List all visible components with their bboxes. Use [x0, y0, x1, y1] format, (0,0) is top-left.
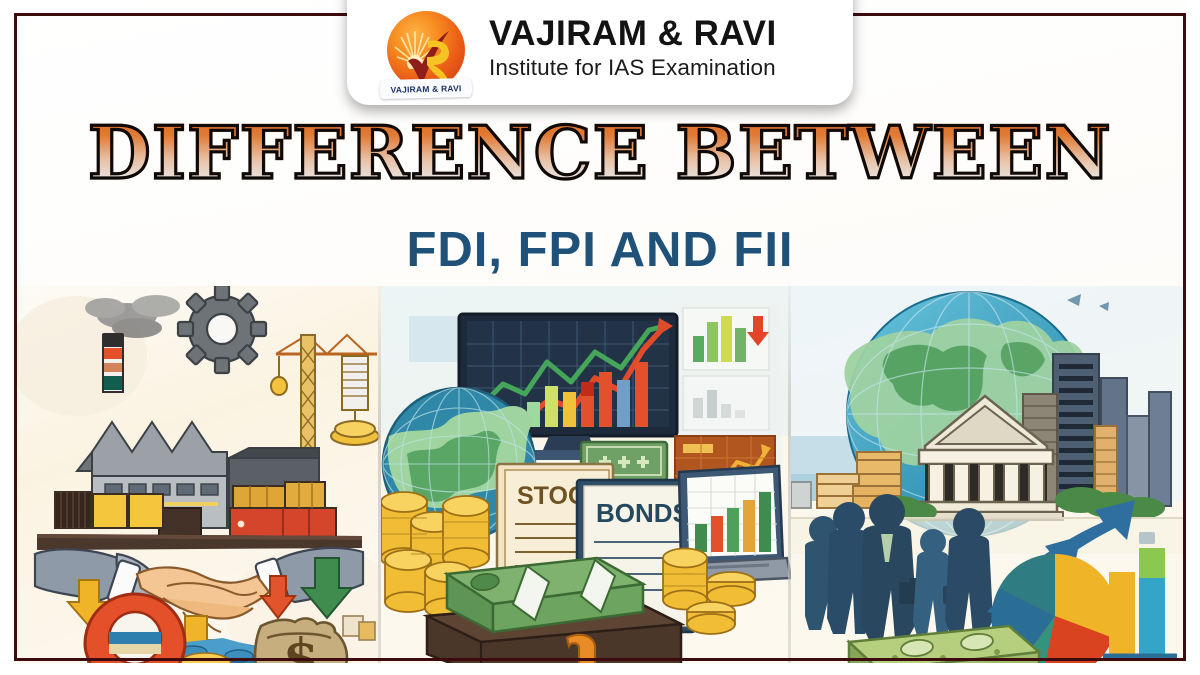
- bottom-margin-mask: [0, 663, 1200, 675]
- right-margin-mask: [1186, 0, 1200, 675]
- smokestack: [102, 333, 124, 392]
- brand-text-block: VAJIRAM & RAVI Institute for IAS Examina…: [489, 16, 777, 82]
- logo-sphere: [387, 11, 465, 89]
- headline-container: DIFFERENCE BETWEEN: [0, 117, 1200, 189]
- secondary-chart-panel: [683, 376, 769, 430]
- poster-canvas: $: [0, 0, 1200, 675]
- page-subtitle-container: FDI, FPI AND FII: [0, 222, 1200, 278]
- small-bar-chart-panel: [683, 308, 769, 370]
- brand-logo-card[interactable]: VAJIRAM & RAVI VAJIRAM & RAVI Institute …: [347, 0, 853, 105]
- brand-name: VAJIRAM & RAVI: [489, 16, 777, 52]
- panel-divider-2: [788, 286, 791, 675]
- illustration-band: $: [17, 286, 1183, 675]
- vajiram-ravi-emblem: VAJIRAM & RAVI: [383, 3, 469, 99]
- gear-icon: [178, 286, 266, 373]
- fpi-panel: STOCCS BONDS: [381, 286, 791, 675]
- logo-banner: VAJIRAM & RAVI: [380, 77, 472, 98]
- panel-divider-1: [378, 286, 381, 675]
- fdi-panel: $: [17, 286, 381, 675]
- bonds-label: BONDS: [596, 498, 690, 528]
- left-margin-mask: [0, 0, 14, 675]
- page-title: DIFFERENCE BETWEEN: [88, 117, 1112, 189]
- page-subtitle: FDI, FPI AND FII: [406, 223, 793, 277]
- logo-banner-text: VAJIRAM & RAVI: [390, 82, 461, 94]
- fii-panel: [791, 286, 1183, 675]
- business-people-silhouettes: [805, 494, 993, 640]
- brand-tagline: Institute for IAS Examination: [489, 55, 777, 81]
